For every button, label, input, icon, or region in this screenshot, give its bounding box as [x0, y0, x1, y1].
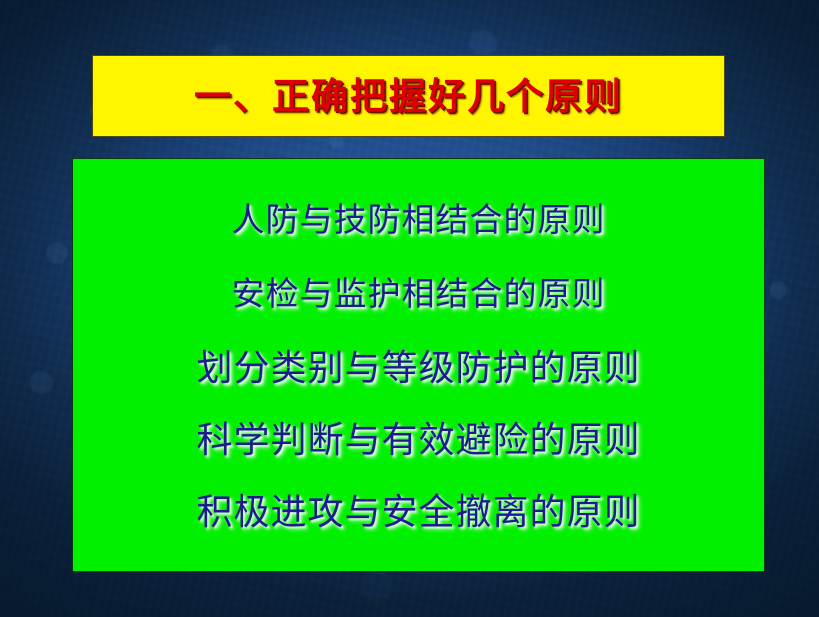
principle-item-4: 科学判断与有效避险的原则	[196, 423, 640, 459]
presentation-slide: 一、正确把握好几个原则 人防与技防相结合的原则 安检与监护相结合的原则 划分类别…	[0, 0, 819, 617]
principle-item-3: 划分类别与等级防护的原则	[196, 351, 640, 387]
principle-item-2: 安检与监护相结合的原则	[232, 277, 606, 310]
title-banner: 一、正确把握好几个原则	[92, 55, 725, 137]
principle-item-5: 积极进攻与安全撤离的原则	[196, 495, 640, 531]
principle-item-1: 人防与技防相结合的原则	[232, 203, 606, 236]
slide-title: 一、正确把握好几个原则	[194, 78, 623, 115]
principles-panel: 人防与技防相结合的原则 安检与监护相结合的原则 划分类别与等级防护的原则 科学判…	[72, 158, 765, 572]
